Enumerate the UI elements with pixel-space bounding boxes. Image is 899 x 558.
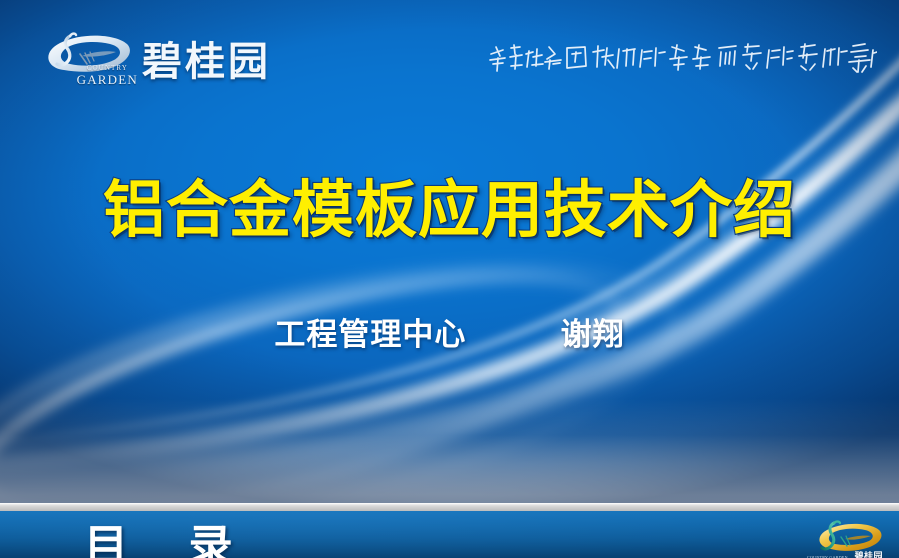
contents-slide: 目 录 — [0, 511, 899, 558]
brand-slogan-handwriting — [487, 38, 877, 84]
contents-heading: 目 录 — [84, 525, 243, 558]
footer-logo-chinese: 碧桂园 — [854, 549, 883, 558]
presentation-deck: COUNTRY GARDEN 碧桂园 — [0, 0, 899, 558]
title-slide: COUNTRY GARDEN 碧桂园 — [0, 0, 899, 503]
bottom-glow-band — [0, 399, 899, 503]
logo-english-bottom: GARDEN — [77, 73, 138, 86]
country-garden-logo-gold-icon: COUNTRY GARDEN 碧桂园 — [803, 517, 885, 558]
logo-english-top: COUNTRY — [77, 65, 138, 72]
brand-logo: COUNTRY GARDEN 碧桂园 — [30, 26, 271, 88]
slide-separator — [0, 503, 899, 511]
logo-english-text: COUNTRY GARDEN — [77, 65, 138, 86]
country-garden-swoosh-icon: COUNTRY GARDEN — [30, 26, 134, 88]
slide-subtitle: 工程管理中心 谢翔 — [0, 309, 899, 354]
logo-chinese-name: 碧桂园 — [142, 42, 271, 82]
slide-title: 铝合金模板应用技术介绍 — [0, 175, 899, 244]
